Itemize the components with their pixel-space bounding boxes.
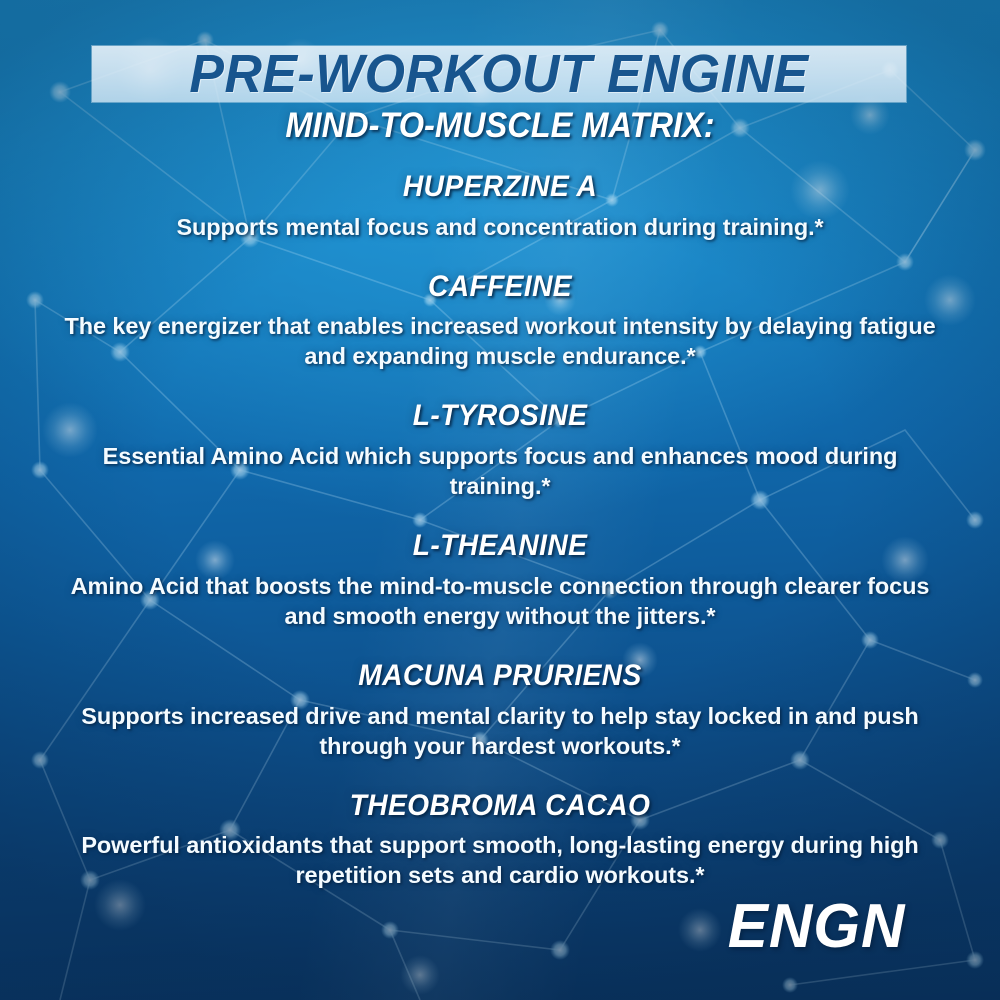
section-spacer: [48, 631, 952, 661]
ingredient-description: Powerful antioxidants that support smoot…: [60, 830, 940, 890]
ingredient-item: HUPERZINE A Supports mental focus and co…: [48, 172, 952, 242]
section-spacer: [48, 761, 952, 791]
infographic-canvas: PRE-WORKOUT ENGINE MIND-TO-MUSCLE MATRIX…: [0, 0, 1000, 1000]
ingredient-item: L-TYROSINE Essential Amino Acid which su…: [48, 401, 952, 501]
ingredient-name: MACUNA PRURIENS: [75, 661, 925, 692]
ingredient-item: MACUNA PRURIENS Supports increased drive…: [48, 661, 952, 761]
ingredient-name: L-THEANINE: [75, 531, 925, 562]
ingredient-description: Essential Amino Acid which supports focu…: [60, 441, 940, 501]
section-spacer: [48, 501, 952, 531]
ingredient-name: L-TYROSINE: [75, 401, 925, 432]
ingredient-description: The key energizer that enables increased…: [60, 311, 940, 371]
ingredient-description: Supports increased drive and mental clar…: [60, 701, 940, 761]
ingredient-name: CAFFEINE: [75, 272, 925, 303]
ingredient-item: THEOBROMA CACAO Powerful antioxidants th…: [48, 791, 952, 891]
ingredient-list: HUPERZINE A Supports mental focus and co…: [0, 172, 1000, 890]
ingredient-description: Supports mental focus and concentration …: [60, 212, 940, 242]
ingredient-item: CAFFEINE The key energizer that enables …: [48, 272, 952, 372]
matrix-subtitle: MIND-TO-MUSCLE MATRIX:: [35, 108, 965, 143]
ingredient-name: THEOBROMA CACAO: [75, 791, 925, 822]
section-spacer: [48, 371, 952, 401]
ingredient-name: HUPERZINE A: [75, 172, 925, 203]
section-spacer: [48, 242, 952, 272]
ingredient-item: L-THEANINE Amino Acid that boosts the mi…: [48, 531, 952, 631]
engn-brand-logo: ENGN: [728, 896, 906, 958]
ingredient-description: Amino Acid that boosts the mind-to-muscl…: [60, 571, 940, 631]
page-title: PRE-WORKOUT ENGINE: [108, 38, 889, 110]
